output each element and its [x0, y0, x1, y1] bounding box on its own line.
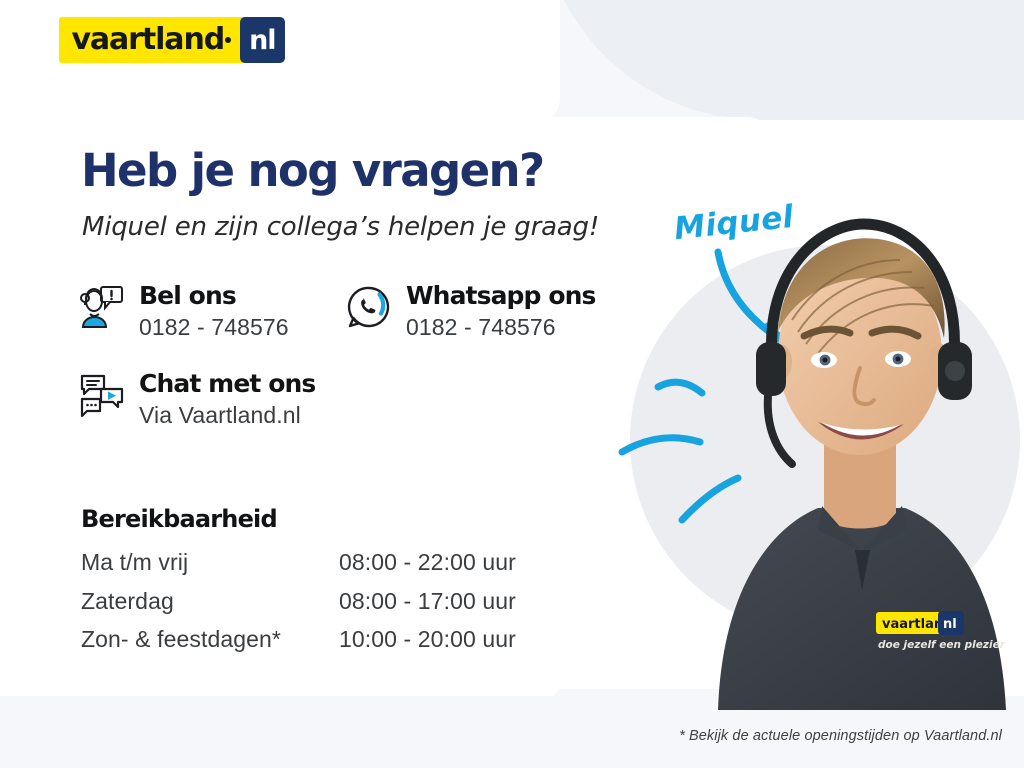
hours-time: 10:00 - 20:00 uur: [339, 626, 516, 654]
contact-value[interactable]: 0182 - 748576: [406, 313, 596, 342]
contact-value[interactable]: 0182 - 748576: [139, 313, 289, 342]
logo-tld: nl: [249, 27, 275, 54]
headset-earcup-left: [756, 342, 786, 396]
headset-earcup-detail: [945, 361, 965, 381]
chat-bubbles-icon: [79, 372, 125, 418]
hours-time: 08:00 - 17:00 uur: [339, 588, 516, 616]
speed-stroke-icon: [658, 382, 702, 393]
polo-shirt: [718, 508, 1006, 710]
logo-wordmark: vaartland: [71, 25, 224, 55]
table-row: Zaterdag 08:00 - 17:00 uur: [81, 588, 641, 616]
whatsapp-icon: [346, 284, 392, 330]
contact-item-whatsapp-ons[interactable]: Whatsapp ons 0182 - 748576: [346, 282, 596, 342]
hours-time: 08:00 - 22:00 uur: [339, 549, 516, 577]
contact-item-chat-met-ons[interactable]: Chat met ons Via Vaartland.nl: [79, 370, 315, 430]
contact-title: Whatsapp ons: [406, 282, 596, 310]
contact-title: Chat met ons: [139, 370, 315, 398]
headset-microphone-boom: [768, 396, 792, 464]
page-title: Heb je nog vragen?: [81, 148, 543, 193]
hours-table: Ma t/m vrij 08:00 - 22:00 uur Zaterdag 0…: [81, 549, 641, 665]
hours-day: Zon- & feestdagen*: [81, 626, 339, 654]
agent-photo-area: Miquel: [600, 100, 1024, 700]
logo-plate[interactable]: vaartland nl: [33, 0, 311, 80]
polo-badge-tagline: doe jezelf een plezier: [878, 639, 1006, 651]
logo-separator-dot: [225, 37, 231, 43]
contact-item-bel-ons[interactable]: Bel ons 0182 - 748576: [79, 282, 289, 342]
contact-text-whatsapp-ons: Whatsapp ons 0182 - 748576: [406, 282, 596, 342]
table-row: Ma t/m vrij 08:00 - 22:00 uur: [81, 549, 641, 577]
table-row: Zon- & feestdagen* 10:00 - 20:00 uur: [81, 626, 641, 654]
agent-portrait: vaartland nl doe jezelf een plezier: [700, 120, 1024, 720]
logo-yellow-block: vaartland: [59, 17, 244, 63]
contact-title: Bel ons: [139, 282, 289, 310]
vaartland-logo[interactable]: vaartland nl: [59, 17, 284, 63]
speed-stroke-icon: [622, 438, 700, 452]
hours-heading: Bereikbaarheid: [81, 505, 277, 533]
page-subtitle: Miquel en zijn collega’s helpen je graag…: [82, 212, 599, 242]
page-root: vaartland nl Heb je nog vragen? Miquel e…: [0, 0, 1024, 768]
agent-figure: [718, 224, 1006, 710]
contact-text-chat-met-ons: Chat met ons Via Vaartland.nl: [139, 370, 315, 430]
contact-text-bel-ons: Bel ons 0182 - 748576: [139, 282, 289, 342]
hours-day: Ma t/m vrij: [81, 549, 339, 577]
headset-person-icon: [79, 284, 125, 330]
logo-navy-block: nl: [240, 17, 284, 63]
contact-value[interactable]: Via Vaartland.nl: [139, 401, 315, 430]
footnote-text: * Bekijk de actuele openingstijden op Va…: [679, 728, 1002, 744]
hours-day: Zaterdag: [81, 588, 339, 616]
polo-badge-tld: nl: [943, 617, 957, 632]
